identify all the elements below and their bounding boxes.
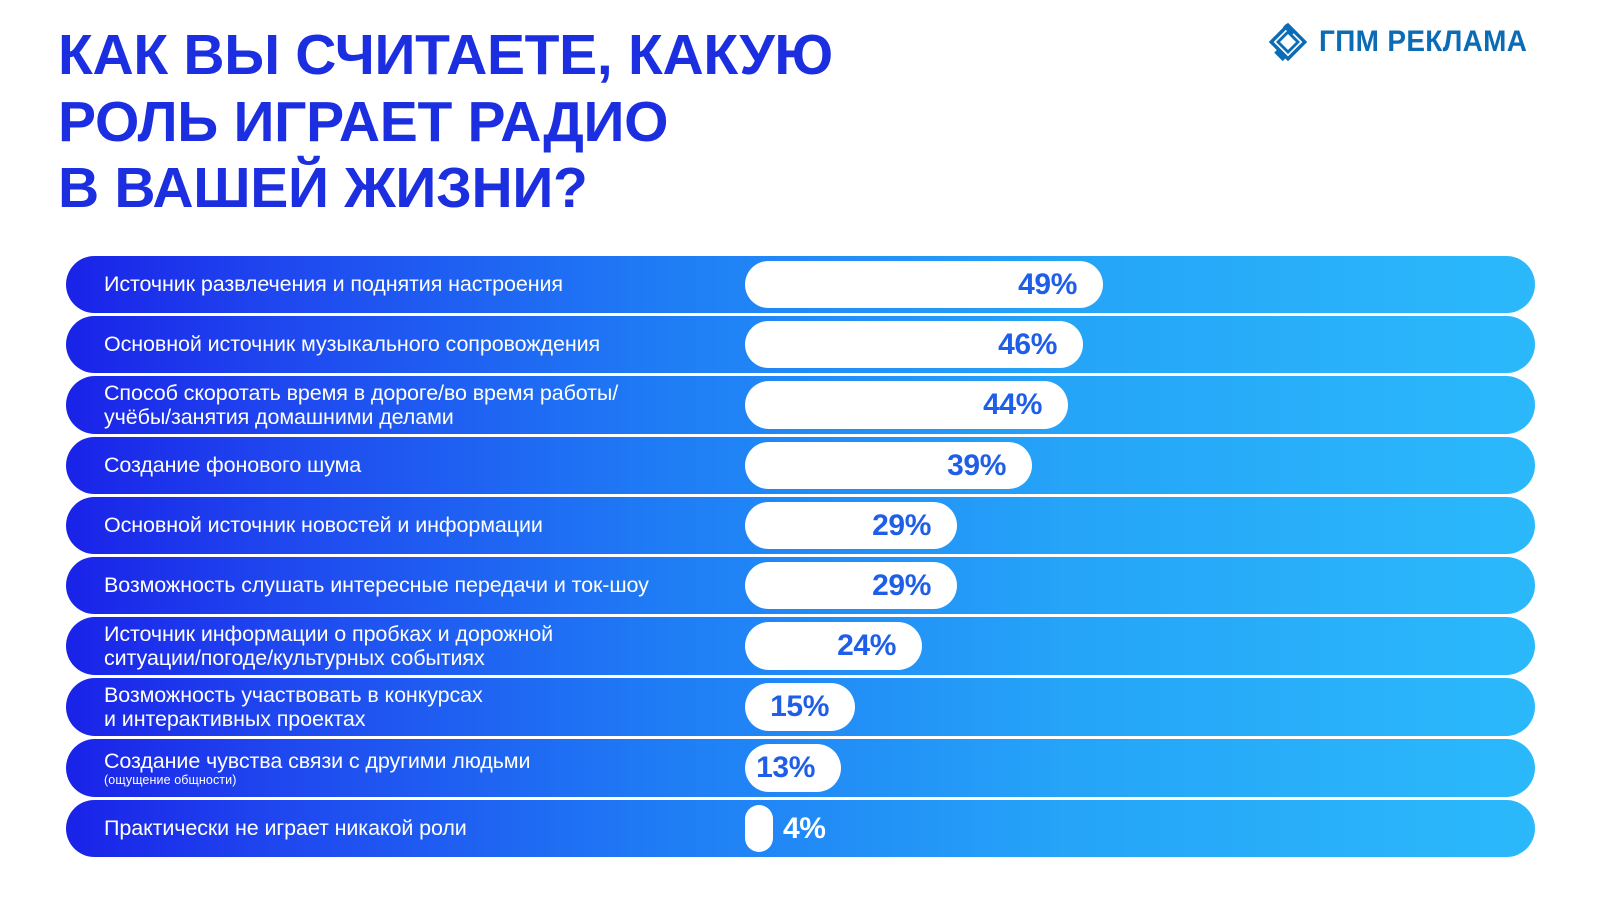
value-label: 4% [783,812,826,846]
value-pill: 15% [745,683,855,731]
value-label: 46% [998,328,1057,362]
chart-row: Основной источник новостей и информации2… [66,497,1535,554]
chart-row: Создание чувства связи с другими людьми(… [66,739,1535,797]
value-label: 15% [770,690,829,724]
row-label: Возможность слушать интересные передачи … [66,573,649,598]
value-pill: 44% [745,381,1068,429]
row-label: Способ скоротать время в дороге/во время… [66,381,618,430]
value-pill: 29% [745,502,957,549]
chart-row: Основной источник музыкального сопровожд… [66,316,1535,373]
value-label: 29% [872,509,931,543]
chart-row: Практически не играет никакой роли4% [66,800,1535,857]
value-pill: 13% [745,744,841,792]
row-label: Источник информации о пробках и дорожной… [66,622,553,671]
row-label: Возможность участвовать в конкурсах и ин… [66,683,483,732]
diamond-spiral-icon [1268,22,1308,62]
row-label: Основной источник новостей и информации [66,513,543,538]
bar-chart: Источник развлечения и поднятия настроен… [66,256,1535,860]
value-label: 49% [1018,268,1077,302]
row-label: Источник развлечения и поднятия настроен… [66,272,563,297]
value-label: 44% [983,388,1042,422]
row-label: Практически не играет никакой роли [66,816,467,841]
header: КАК ВЫ СЧИТАЕТЕ, КАКУЮ РОЛЬ ИГРАЕТ РАДИО… [0,0,1600,238]
chart-row: Возможность участвовать в конкурсах и ин… [66,678,1535,736]
value-pill: 4% [745,805,773,852]
row-label: Основной источник музыкального сопровожд… [66,332,600,357]
chart-row: Источник развлечения и поднятия настроен… [66,256,1535,313]
logo-text: ГПМ РЕКЛАМА [1319,25,1527,59]
row-sublabel: (ощущение общности) [104,773,530,787]
brand-logo: ГПМ РЕКЛАМА [1268,22,1543,62]
value-pill: 24% [745,622,922,670]
value-label: 39% [947,449,1006,483]
row-label: Создание фонового шума [66,453,361,478]
chart-row: Источник информации о пробках и дорожной… [66,617,1535,675]
chart-row: Создание фонового шума39% [66,437,1535,494]
chart-row: Способ скоротать время в дороге/во время… [66,376,1535,434]
value-pill: 29% [745,562,957,609]
value-label: 13% [756,751,815,785]
value-pill: 46% [745,321,1083,368]
value-label: 29% [872,569,931,603]
value-pill: 39% [745,442,1032,489]
value-pill: 49% [745,261,1103,308]
row-label: Создание чувства связи с другими людьми(… [66,749,530,788]
page-title: КАК ВЫ СЧИТАЕТЕ, КАКУЮ РОЛЬ ИГРАЕТ РАДИО… [58,22,958,222]
value-label: 24% [837,629,896,663]
chart-row: Возможность слушать интересные передачи … [66,557,1535,614]
